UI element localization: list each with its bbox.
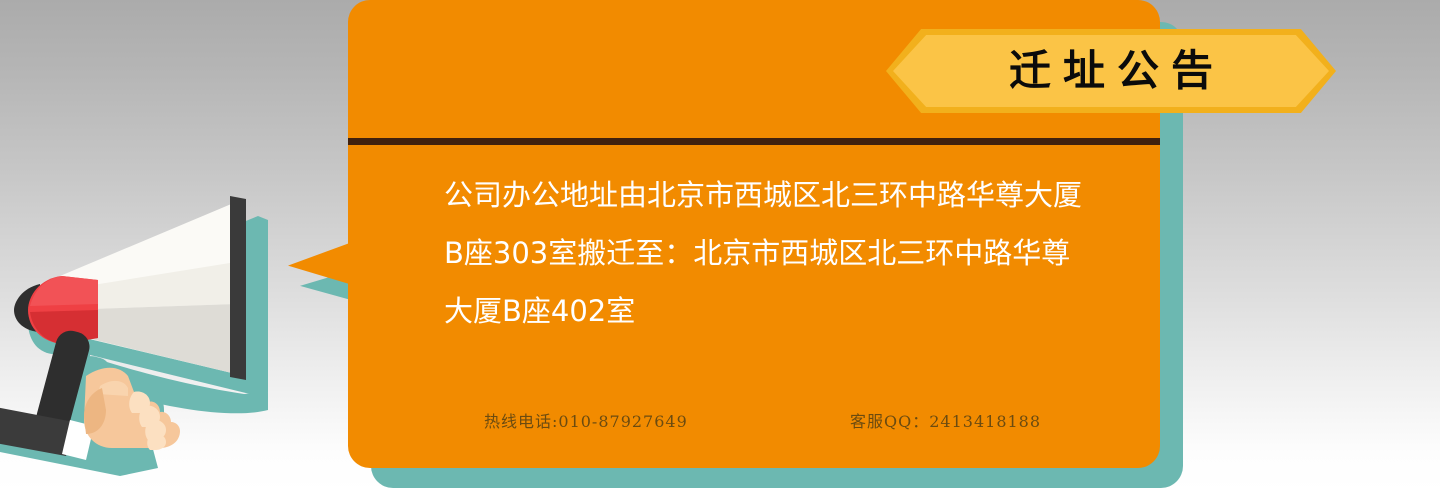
hotline-phone: 热线电话:010-87927649	[484, 408, 688, 432]
contact-footer: 热线电话:010-87927649 客服QQ：2413418188	[444, 408, 1104, 438]
page-title: 迁址公告	[886, 29, 1336, 113]
title-ribbon: 迁址公告	[886, 29, 1336, 113]
megaphone-mouthpiece	[14, 276, 98, 344]
announcement-graphic: 迁址公告 公司办公地址由北京市西城区北三环中路华尊大厦B座303室搬迁至：北京市…	[0, 0, 1440, 492]
megaphone-illustration	[0, 180, 340, 492]
announcement-body-text: 公司办公地址由北京市西城区北三环中路华尊大厦B座303室搬迁至：北京市西城区北三…	[444, 166, 1090, 340]
title-divider	[348, 138, 1160, 145]
megaphone-rim	[230, 196, 246, 380]
service-qq: 客服QQ：2413418188	[850, 408, 1041, 432]
